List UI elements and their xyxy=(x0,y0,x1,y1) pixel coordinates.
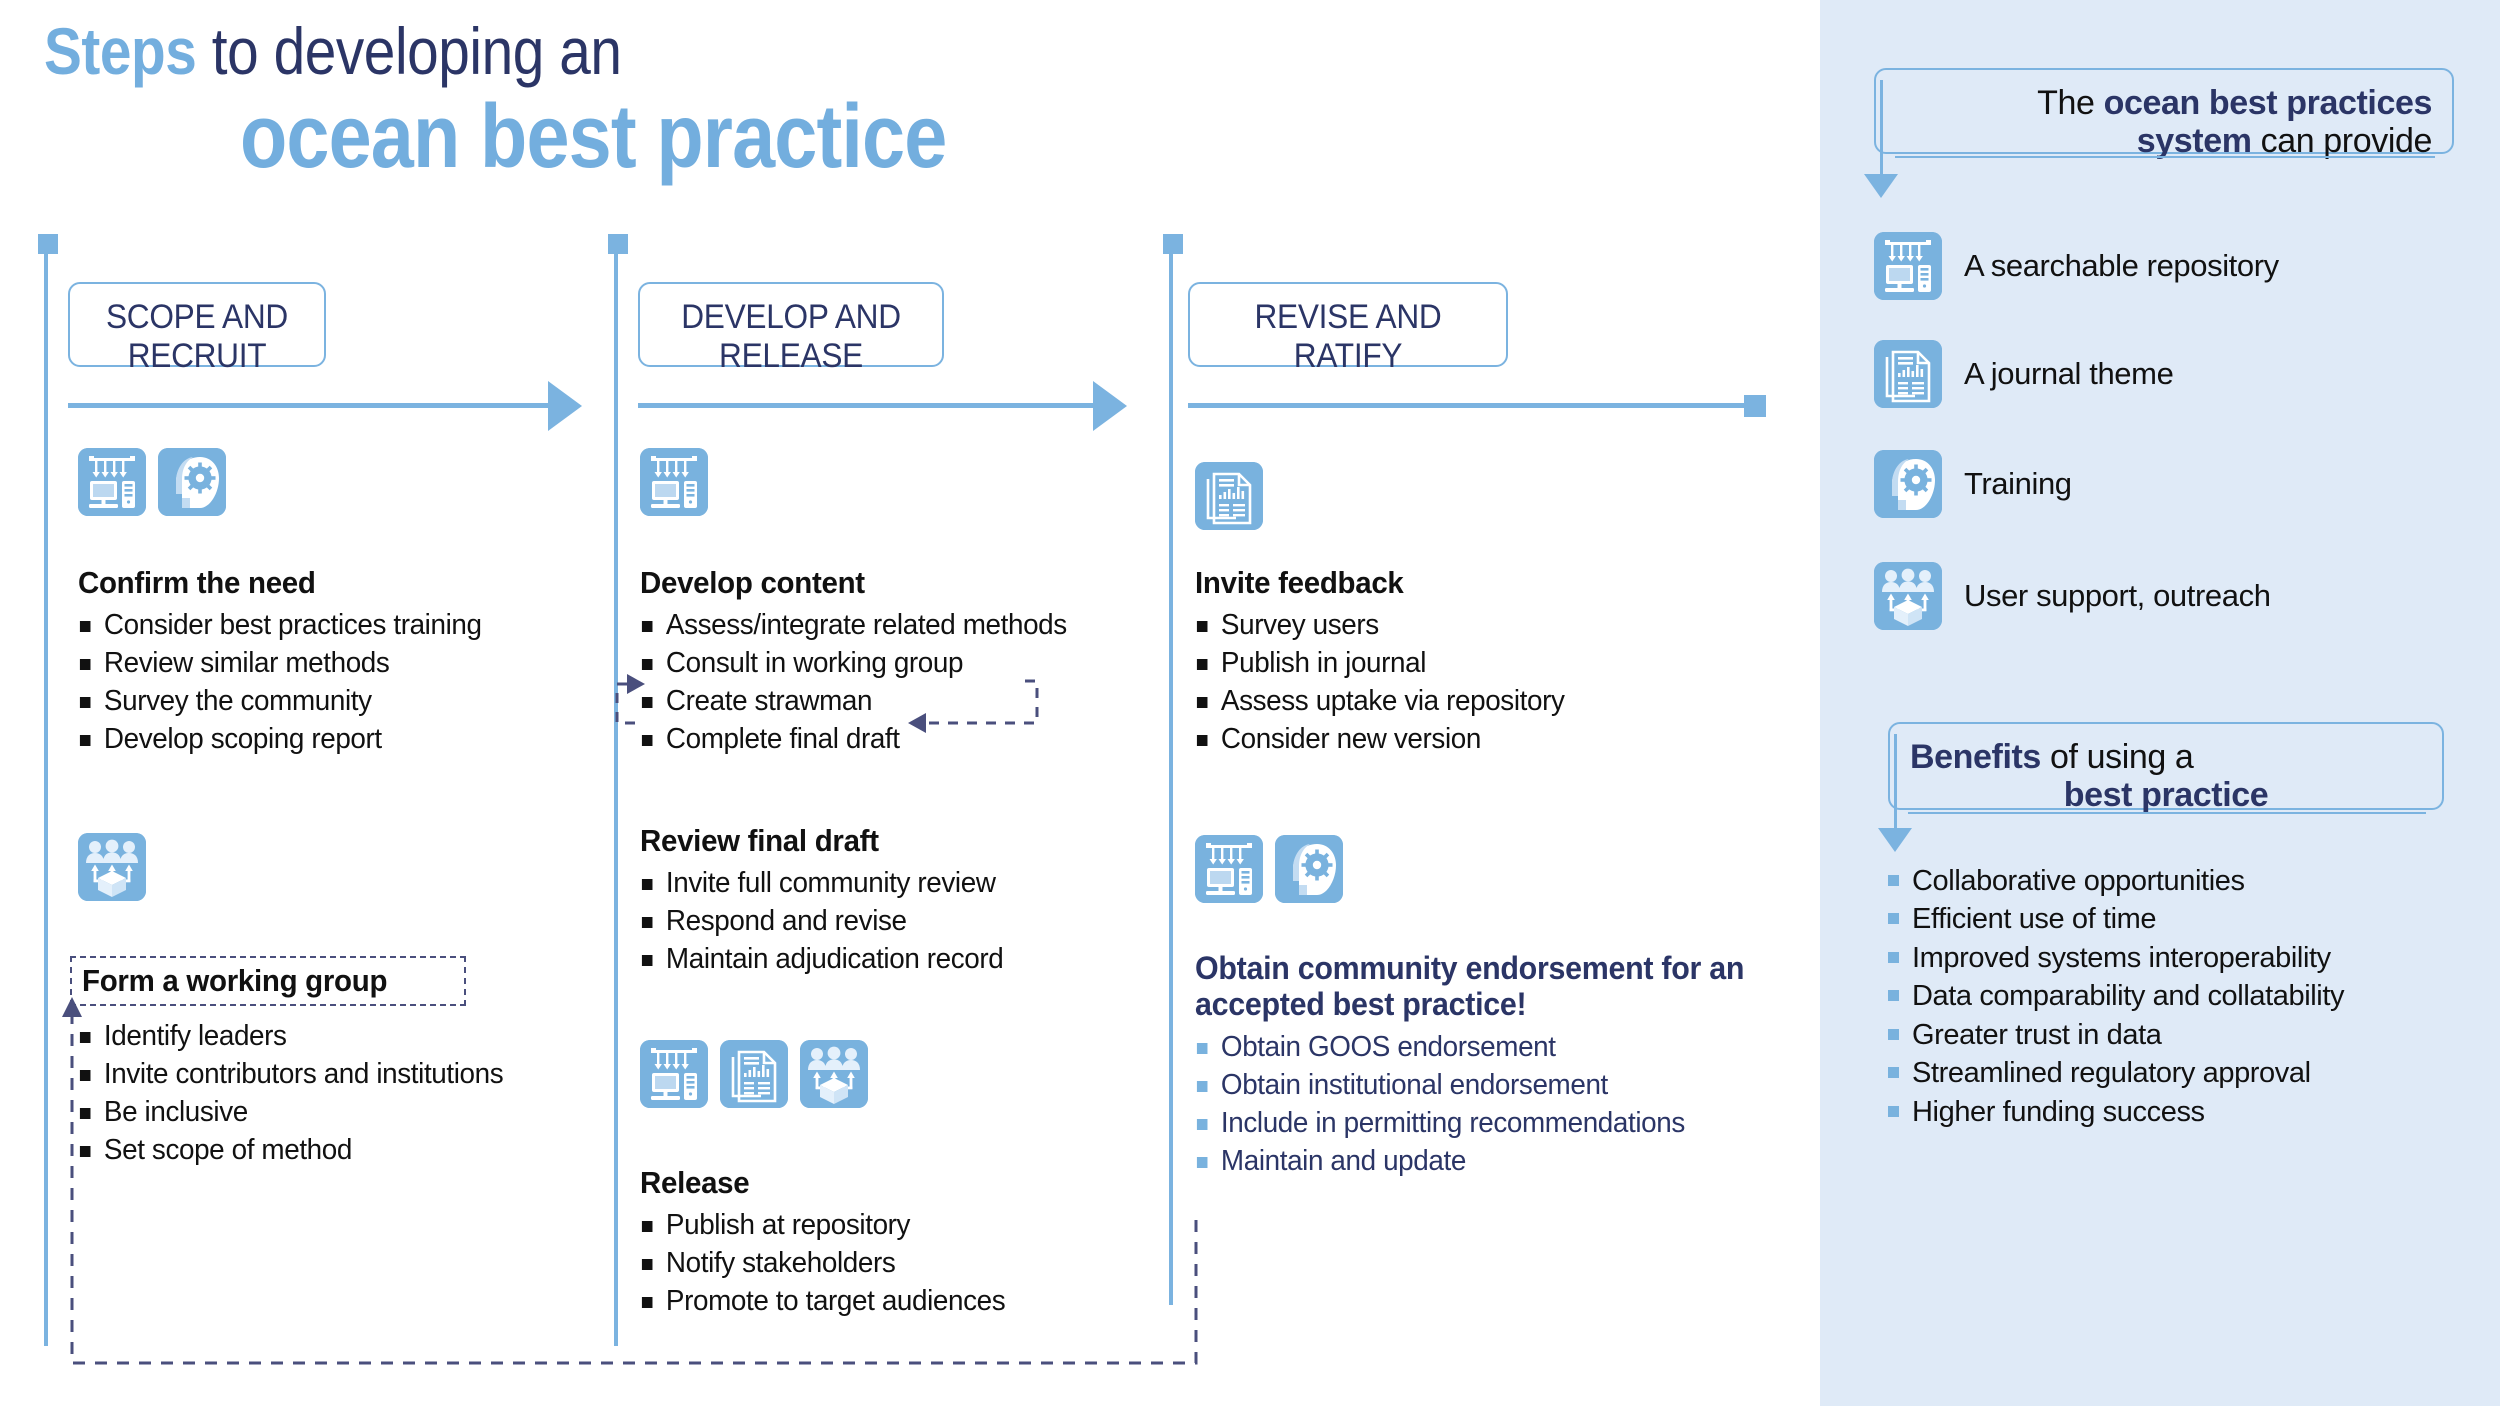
list-item: Survey users xyxy=(1195,607,1752,645)
provide-item: User support, outreach xyxy=(1874,562,2271,630)
column-header-label-2: DEVELOP AND RELEASE xyxy=(667,298,914,376)
column-header-box-3: REVISE AND RATIFY xyxy=(1188,282,1508,367)
column-header-box-1: SCOPE AND RECRUIT xyxy=(68,282,326,367)
benefit-item: Data comparability and collatability xyxy=(1886,977,2446,1015)
phase-arrow-head-2 xyxy=(1093,381,1127,431)
section-heading: Release xyxy=(640,1165,1172,1201)
infographic-root: Steps to developing an ocean best practi… xyxy=(0,0,2500,1406)
section-heading: Develop content xyxy=(640,565,1172,601)
section-heading: Review final draft xyxy=(640,823,1172,859)
list-item: Publish at repository xyxy=(640,1207,1178,1245)
list-item: Create strawman xyxy=(640,683,1178,721)
repository-icon xyxy=(640,1040,708,1108)
repository-icon xyxy=(1195,835,1263,903)
column-header-box-2: DEVELOP AND RELEASE xyxy=(638,282,944,367)
list-item: Consider new version xyxy=(1195,721,1752,759)
section-heading: Obtain community endorsement for an acce… xyxy=(1195,950,1765,1023)
benefits-list: Collaborative opportunities Efficient us… xyxy=(1886,862,2446,1131)
title-line1-rest: to developing an xyxy=(196,14,621,88)
benefit-item: Efficient use of time xyxy=(1886,900,2446,938)
list-item: Publish in journal xyxy=(1195,645,1752,683)
section-list: Consider best practices training Review … xyxy=(78,607,598,759)
head-gear-icon xyxy=(1874,450,1942,518)
system-provides-down-arrow xyxy=(1862,80,1902,198)
provide-item: Training xyxy=(1874,450,2072,518)
repository-icon xyxy=(78,448,146,516)
icon-row-develop-content xyxy=(640,448,708,516)
provide-item-label: User support, outreach xyxy=(1964,578,2271,614)
repository-icon xyxy=(1874,232,1942,300)
section-list: Identify leaders Invite contributors and… xyxy=(78,1018,598,1170)
provide-item: A searchable repository xyxy=(1874,232,2279,300)
page-title: Steps to developing an ocean best practi… xyxy=(44,18,1364,184)
right-side-panel xyxy=(1820,0,2500,1406)
section-confirm-the-need: Confirm the need Consider best practices… xyxy=(78,565,598,759)
section-list: Invite full community review Respond and… xyxy=(640,865,1200,979)
column-marker-3 xyxy=(1163,234,1183,254)
provide-item-label: A journal theme xyxy=(1964,356,2173,392)
people-cube-icon xyxy=(800,1040,868,1108)
column-rail-2 xyxy=(614,240,618,1346)
people-cube-icon xyxy=(1874,562,1942,630)
journal-icon xyxy=(720,1040,788,1108)
list-item: Invite contributors and institutions xyxy=(78,1056,577,1094)
people-cube-icon xyxy=(78,833,146,901)
list-item: Maintain adjudication record xyxy=(640,941,1178,979)
section-list: Assess/integrate related methods Consult… xyxy=(640,607,1200,759)
head-gear-icon xyxy=(158,448,226,516)
section-release: Release Publish at repository Notify sta… xyxy=(640,1165,1200,1321)
icon-row-release xyxy=(640,1040,868,1108)
section-list: Obtain GOOS endorsement Obtain instituti… xyxy=(1195,1029,1835,1181)
provide-bold-label-1: ocean best practices xyxy=(2104,84,2432,122)
list-item: Develop scoping report xyxy=(78,721,577,759)
benefit-item: Higher funding success xyxy=(1886,1093,2446,1131)
column-header-label-3: REVISE AND RATIFY xyxy=(1218,298,1478,376)
section-heading: Invite feedback xyxy=(1195,565,1746,601)
benefit-item: Streamlined regulatory approval xyxy=(1886,1054,2446,1092)
provide-item-label: Training xyxy=(1964,466,2072,502)
benefit-item: Collaborative opportunities xyxy=(1886,862,2446,900)
section-obtain-endorsement: Obtain community endorsement for an acce… xyxy=(1195,950,1835,1181)
repository-icon xyxy=(640,448,708,516)
phase-arrow-end-marker xyxy=(1744,395,1766,417)
list-item: Be inclusive xyxy=(78,1094,577,1132)
benefits-down-arrow xyxy=(1876,734,1916,854)
section-heading: Confirm the need xyxy=(78,565,572,601)
list-item: Review similar methods xyxy=(78,645,577,683)
system-provides-card-rule xyxy=(1895,156,2435,158)
section-form-a-working-group: Identify leaders Invite contributors and… xyxy=(78,1018,598,1170)
system-provides-card: The ocean best practices system can prov… xyxy=(1874,68,2454,154)
icon-row-working-group xyxy=(78,833,146,901)
journal-icon xyxy=(1874,340,1942,408)
benefits-card: Benefits of using a best practice xyxy=(1888,722,2444,810)
benefits-bold-label-2: best practice xyxy=(1910,776,2422,814)
benefits-card-rule xyxy=(1908,812,2426,814)
icon-row-endorsement xyxy=(1195,835,1343,903)
list-item: Promote to target audiences xyxy=(640,1283,1178,1321)
column-rail-3 xyxy=(1169,240,1173,1305)
list-item: Notify stakeholders xyxy=(640,1245,1178,1283)
list-item: Maintain and update xyxy=(1195,1143,1809,1181)
phase-arrow-line-3 xyxy=(1188,403,1746,408)
section-list: Publish at repository Notify stakeholder… xyxy=(640,1207,1200,1321)
benefits-bold-label-1: Benefits xyxy=(1910,738,2041,776)
journal-icon xyxy=(1195,462,1263,530)
provide-post-label: can provide xyxy=(2252,122,2432,160)
column-rail-1 xyxy=(44,240,48,1346)
title-line2: ocean best practice xyxy=(240,92,1207,184)
provide-item: A journal theme xyxy=(1874,340,2173,408)
list-item: Set scope of method xyxy=(78,1132,577,1170)
phase-arrow-line-2 xyxy=(638,403,1093,408)
form-working-group-title-box: Form a working group xyxy=(70,956,466,1006)
section-heading: Form a working group xyxy=(82,963,434,999)
section-review-final-draft: Review final draft Invite full community… xyxy=(640,823,1200,979)
benefits-post-label: of using a xyxy=(2041,738,2194,776)
section-list: Survey users Publish in journal Assess u… xyxy=(1195,607,1775,759)
section-invite-feedback: Invite feedback Survey users Publish in … xyxy=(1195,565,1775,759)
list-item: Include in permitting recommendations xyxy=(1195,1105,1809,1143)
list-item: Consult in working group xyxy=(640,645,1178,683)
icon-row-invite-feedback xyxy=(1195,462,1263,530)
list-item: Respond and revise xyxy=(640,903,1178,941)
list-item: Survey the community xyxy=(78,683,577,721)
phase-arrow-head-1 xyxy=(548,381,582,431)
list-item: Complete final draft xyxy=(640,721,1178,759)
icon-row-confirm-need xyxy=(78,448,226,516)
provide-bold-label-2: system xyxy=(2137,122,2252,160)
section-develop-content: Develop content Assess/integrate related… xyxy=(640,565,1200,759)
title-accent-word: Steps xyxy=(44,14,196,88)
provide-item-label: A searchable repository xyxy=(1964,248,2279,284)
benefit-item: Greater trust in data xyxy=(1886,1016,2446,1054)
column-marker-1 xyxy=(38,234,58,254)
provide-pre-label: The xyxy=(2037,84,2103,122)
head-gear-icon xyxy=(1275,835,1343,903)
list-item: Obtain GOOS endorsement xyxy=(1195,1029,1809,1067)
list-item: Invite full community review xyxy=(640,865,1178,903)
column-header-label-1: SCOPE AND RECRUIT xyxy=(96,298,299,376)
list-item: Obtain institutional endorsement xyxy=(1195,1067,1809,1105)
list-item: Assess uptake via repository xyxy=(1195,683,1752,721)
list-item: Assess/integrate related methods xyxy=(640,607,1178,645)
column-marker-2 xyxy=(608,234,628,254)
phase-arrow-line-1 xyxy=(68,403,548,408)
benefit-item: Improved systems interoperability xyxy=(1886,939,2446,977)
list-item: Consider best practices training xyxy=(78,607,577,645)
list-item: Identify leaders xyxy=(78,1018,577,1056)
